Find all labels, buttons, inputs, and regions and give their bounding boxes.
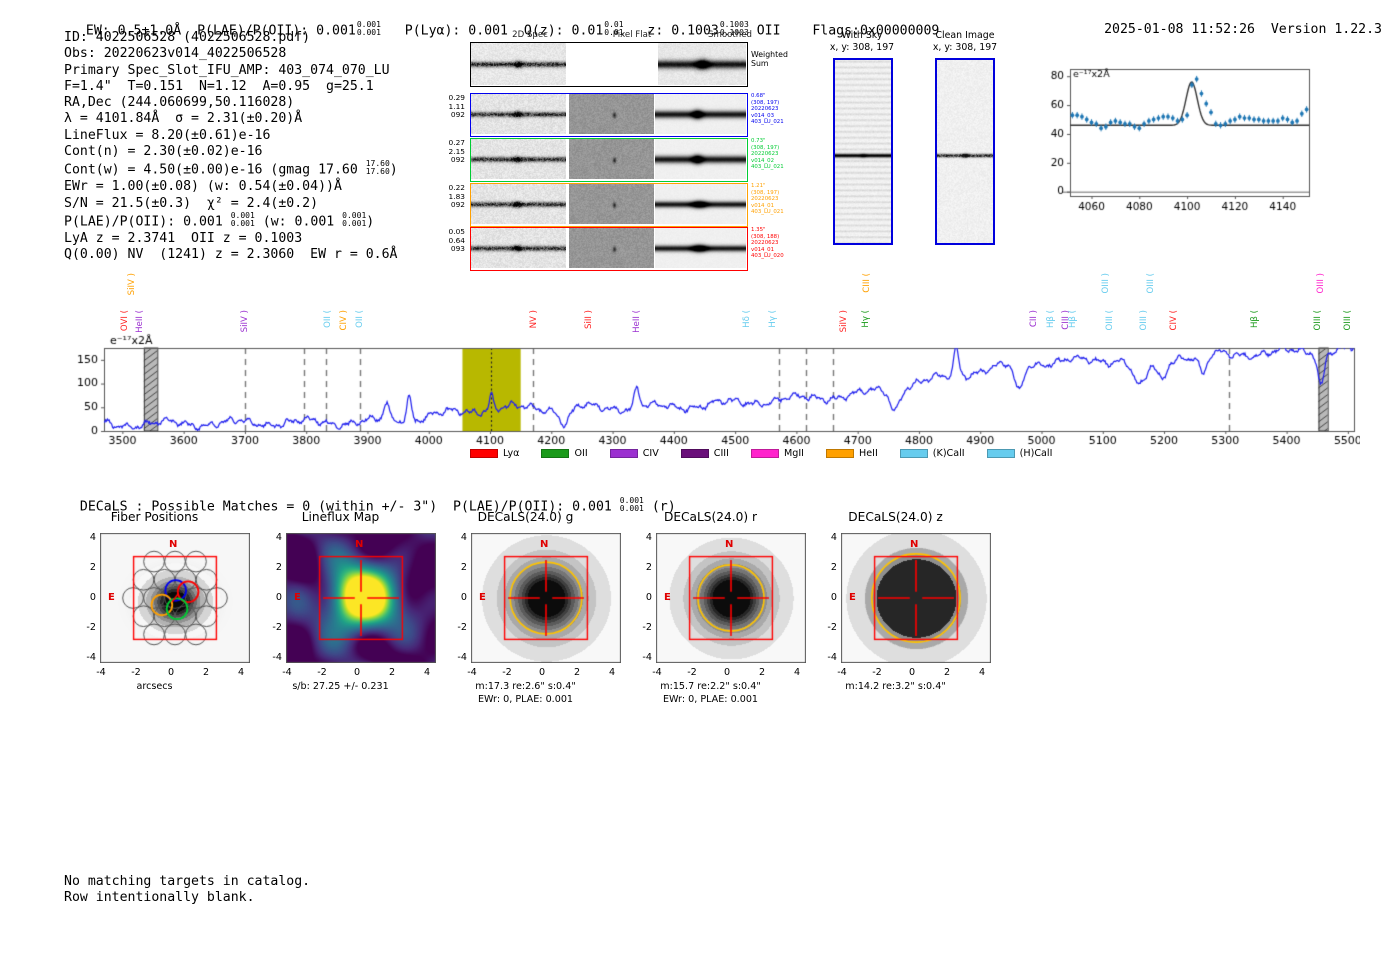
compass-east: E bbox=[108, 592, 115, 603]
info-lambda-sigma: λ = 4101.84Å σ = 2.31(±0.20)Å bbox=[64, 111, 398, 127]
compass-east: E bbox=[479, 592, 486, 603]
cutout-panel-lineflux-map: Lineflux Map420-2-4-4-2024s/b: 27.25 +/-… bbox=[248, 505, 433, 745]
compass-east: E bbox=[664, 592, 671, 603]
cutout-y-tick: 4 bbox=[262, 532, 282, 543]
compass-north: N bbox=[540, 539, 548, 550]
cutout-y-tick: 4 bbox=[632, 532, 652, 543]
col-title-2d-spec: 2D Spec bbox=[475, 30, 585, 40]
info-seeing: F=1.4" T=0.151 N=1.12 A=0.95 g=25.1 bbox=[64, 79, 398, 95]
legend-label: Lyα bbox=[503, 448, 519, 459]
spec-row-smoothed bbox=[655, 94, 746, 134]
spec-row-pixel-flat bbox=[569, 139, 654, 179]
cutout-x-tick: 2 bbox=[195, 667, 217, 678]
spec-row-smoothed bbox=[655, 184, 746, 224]
cutout-y-tick: 0 bbox=[262, 592, 282, 603]
legend-item: Lyα bbox=[470, 448, 519, 459]
cutout-x-tick: -2 bbox=[866, 667, 888, 678]
with-sky-subtitle: x, y: 308, 197 bbox=[812, 42, 912, 53]
info-id: ID: 4022506528 (4022506528.pdf) bbox=[64, 30, 398, 46]
cutout-image[interactable] bbox=[841, 533, 991, 663]
cutout-y-tick: 0 bbox=[447, 592, 467, 603]
header-version: Version 1.22.3 bbox=[1271, 22, 1382, 37]
col-title-smoothed: Smoothed bbox=[675, 30, 785, 40]
compass-north: N bbox=[355, 539, 363, 550]
cutout-title: DECaLS(24.0) z bbox=[803, 510, 988, 524]
cutout-y-tick: 4 bbox=[447, 532, 467, 543]
legend-item: CIV bbox=[610, 448, 659, 459]
info-cont-n: Cont(n) = 2.30(±0.02)e-16 bbox=[64, 144, 398, 160]
cutout-y-tick: 2 bbox=[447, 562, 467, 573]
cutout-x-tick: 2 bbox=[936, 667, 958, 678]
legend-swatch bbox=[610, 449, 638, 458]
emission-line-zoom-chart bbox=[1032, 45, 1315, 230]
cutout-y-tick: 0 bbox=[817, 592, 837, 603]
detection-info-block: ID: 4022506528 (4022506528.pdf) Obs: 202… bbox=[64, 30, 398, 263]
info-lineflux: LineFlux = 8.20(±0.61)e-16 bbox=[64, 128, 398, 144]
cutout-y-tick: 2 bbox=[817, 562, 837, 573]
cutout-x-tick: -4 bbox=[646, 667, 668, 678]
col-title-pixel-flat: Pixel Flat bbox=[577, 30, 687, 40]
legend-label: CIV bbox=[643, 448, 659, 459]
legend-swatch bbox=[826, 449, 854, 458]
spec-row-left-stats: 0.29 1.11 092 bbox=[417, 94, 465, 120]
cutout-y-tick: 0 bbox=[632, 592, 652, 603]
legend-swatch bbox=[541, 449, 569, 458]
cutout-x-tick: -4 bbox=[276, 667, 298, 678]
info-plae-poii: P(LAE)/P(OII): 0.001 0.0010.001 (w: 0.00… bbox=[64, 212, 398, 231]
legend-label: OII bbox=[574, 448, 587, 459]
cutout-x-tick: 0 bbox=[531, 667, 553, 678]
info-cont-w: Cont(w) = 4.50(±0.00)e-16 (gmag 17.60 17… bbox=[64, 160, 398, 179]
cutout-caption: m:15.7 re:2.2" s:0.4" bbox=[612, 681, 809, 693]
spec-row-panel bbox=[470, 93, 748, 137]
info-ewr: EWr = 1.00(±0.08) (w: 0.54(±0.04))Å bbox=[64, 179, 398, 195]
clean-image bbox=[935, 58, 995, 245]
cutout-x-tick: -4 bbox=[461, 667, 483, 678]
info-q-line: Q(0.00) NV (1241) z = 2.3060 EW r = 0.6Å bbox=[64, 247, 398, 263]
cutout-y-tick: -4 bbox=[262, 652, 282, 663]
cutout-caption: m:17.3 re:2.6" s:0.4" bbox=[427, 681, 624, 693]
cutout-y-tick: -4 bbox=[76, 652, 96, 663]
weighted-sum-panel bbox=[470, 42, 748, 87]
cutout-x-tick: 4 bbox=[971, 667, 993, 678]
cutout-panel-decals-r: DECaLS(24.0) r420-2-4-4-2024m:15.7 re:2.… bbox=[618, 505, 803, 745]
spec-row-left-stats: 0.27 2.15 092 bbox=[417, 139, 465, 165]
legend-label: CIII bbox=[714, 448, 729, 459]
info-sn-chi2: S/N = 21.5(±0.3) χ² = 2.4(±0.2) bbox=[64, 196, 398, 212]
spec-row-smoothed bbox=[655, 228, 746, 268]
header-timestamp: 2025-01-08 11:52:26 bbox=[1104, 22, 1255, 37]
info-primary-spec: Primary Spec_Slot_IFU_AMP: 403_074_070_L… bbox=[64, 63, 398, 79]
cutout-y-tick: 0 bbox=[76, 592, 96, 603]
cutout-panel-decals-g: DECaLS(24.0) g420-2-4-4-2024m:17.3 re:2.… bbox=[433, 505, 618, 745]
cutout-y-tick: -2 bbox=[817, 622, 837, 633]
compass-north: N bbox=[169, 539, 177, 550]
legend-item: HeII bbox=[826, 448, 878, 459]
two-d-spectrum-panel-group: 2D Spec Pixel Flat Smoothed Weighted Sum… bbox=[455, 30, 785, 260]
cutout-y-tick: -4 bbox=[632, 652, 652, 663]
cutout-title: Fiber Positions bbox=[62, 510, 247, 524]
legend-swatch bbox=[900, 449, 928, 458]
spec-row-2d-image bbox=[471, 139, 566, 179]
legend-swatch bbox=[751, 449, 779, 458]
cutout-panel-fiber-positions: Fiber Positions420-2-4-4-2024arcsecsNE bbox=[62, 505, 247, 745]
spec-row-panel bbox=[470, 183, 748, 227]
legend-swatch bbox=[470, 449, 498, 458]
with-sky-title: With Sky bbox=[812, 30, 912, 41]
clean-image-subtitle: x, y: 308, 197 bbox=[910, 42, 1020, 53]
cutout-caption: m:14.2 re:3.2" s:0.4" bbox=[797, 681, 994, 693]
cutout-image[interactable] bbox=[656, 533, 806, 663]
legend-label: (H)CalI bbox=[1020, 448, 1053, 459]
cutout-title: DECaLS(24.0) r bbox=[618, 510, 803, 524]
cutout-y-tick: -2 bbox=[632, 622, 652, 633]
cutout-y-tick: -2 bbox=[262, 622, 282, 633]
legend-item: OII bbox=[541, 448, 587, 459]
spectrum-legend: LyαOIICIVCIIIMgIIHeII(K)CalI(H)CalI bbox=[470, 448, 1074, 459]
spec-row-2d-image bbox=[471, 184, 566, 224]
header-timestamp-version: 2025-01-08 11:52:26 Version 1.22.3 bbox=[1088, 7, 1382, 37]
cutout-image[interactable] bbox=[286, 533, 436, 663]
spec-row-smoothed bbox=[655, 139, 746, 179]
cutout-y-tick: 2 bbox=[76, 562, 96, 573]
cutout-x-tick: -2 bbox=[681, 667, 703, 678]
compass-east: E bbox=[294, 592, 301, 603]
cutout-panel-row: Fiber Positions420-2-4-4-2024arcsecsNELi… bbox=[0, 505, 1400, 745]
cutout-x-tick: 2 bbox=[381, 667, 403, 678]
cutout-x-tick: -4 bbox=[90, 667, 112, 678]
footer-line-1: No matching targets in catalog. bbox=[64, 874, 310, 890]
cutout-x-tick: 2 bbox=[751, 667, 773, 678]
cutout-x-tick: -2 bbox=[125, 667, 147, 678]
compass-north: N bbox=[725, 539, 733, 550]
cutout-y-tick: 2 bbox=[632, 562, 652, 573]
legend-swatch bbox=[987, 449, 1015, 458]
spec-row-pixel-flat bbox=[569, 228, 654, 268]
weighted-sum-label: Weighted Sum bbox=[751, 50, 788, 69]
clean-image-title: Clean Image bbox=[910, 30, 1020, 41]
cutout-y-tick: 4 bbox=[76, 532, 96, 543]
cutout-image[interactable] bbox=[471, 533, 621, 663]
footer-notes: No matching targets in catalog. Row inte… bbox=[64, 874, 310, 907]
legend-label: (K)CalI bbox=[933, 448, 965, 459]
cutout-x-tick: -4 bbox=[831, 667, 853, 678]
cutout-y-tick: -4 bbox=[817, 652, 837, 663]
spec-row-panel bbox=[470, 138, 748, 182]
cutout-caption: s/b: 27.25 +/- 0.231 bbox=[242, 681, 439, 693]
cutout-y-tick: -4 bbox=[447, 652, 467, 663]
cutout-x-tick: 0 bbox=[716, 667, 738, 678]
cutout-panel-decals-z: DECaLS(24.0) z420-2-4-4-2024m:14.2 re:3.… bbox=[803, 505, 988, 745]
cutout-x-tick: 0 bbox=[346, 667, 368, 678]
spec-row-pixel-flat bbox=[569, 184, 654, 224]
legend-item: CIII bbox=[681, 448, 729, 459]
compass-east: E bbox=[849, 592, 856, 603]
spec-row-meta: 1.21" (308, 197) 20220623 v014_01 403_LU… bbox=[751, 183, 784, 216]
full-spectrum-chart: OVI (HeII (SiIV )SiIV )OII (CIV )OII (NV… bbox=[60, 270, 1360, 455]
spec-row-panel bbox=[470, 227, 748, 271]
cutout-x-label: arcsecs bbox=[62, 681, 247, 693]
info-radec: RA,Dec (244.060699,50.116028) bbox=[64, 95, 398, 111]
cutout-x-tick: 2 bbox=[566, 667, 588, 678]
spec-row-left-stats: 0.05 0.64 093 bbox=[417, 228, 465, 254]
spec-row-meta: 0.68" (308, 197) 20220623 v014_03 403_LU… bbox=[751, 93, 784, 126]
cutout-title: Lineflux Map bbox=[248, 510, 433, 524]
spec-row-2d-image bbox=[471, 94, 566, 134]
cutout-y-tick: -2 bbox=[447, 622, 467, 633]
legend-item: MgII bbox=[751, 448, 804, 459]
spec-row-pixel-flat bbox=[569, 94, 654, 134]
legend-label: MgII bbox=[784, 448, 804, 459]
legend-item: (K)CalI bbox=[900, 448, 965, 459]
spec-row-left-stats: 0.22 1.83 092 bbox=[417, 184, 465, 210]
spec-row-2d-image bbox=[471, 228, 566, 268]
cutout-x-tick: 0 bbox=[160, 667, 182, 678]
compass-north: N bbox=[910, 539, 918, 550]
cutout-y-tick: 2 bbox=[262, 562, 282, 573]
with-sky-image bbox=[833, 58, 893, 245]
legend-swatch bbox=[681, 449, 709, 458]
spec-row-meta: 1.35" (308, 188) 20220623 v014_01 403_LU… bbox=[751, 227, 784, 260]
cutout-caption-2: EWr: 0, PLAE: 0.001 bbox=[427, 694, 624, 706]
cutout-y-tick: -2 bbox=[76, 622, 96, 633]
legend-item: (H)CalI bbox=[987, 448, 1053, 459]
cutout-caption-2: EWr: 0, PLAE: 0.001 bbox=[612, 694, 809, 706]
info-obs: Obs: 20220623v014_4022506528 bbox=[64, 46, 398, 62]
spec-row-meta: 0.73" (308, 197) 20220623 v014_02 403_LU… bbox=[751, 138, 784, 171]
cutout-image[interactable] bbox=[100, 533, 250, 663]
cutout-x-tick: -2 bbox=[496, 667, 518, 678]
footer-line-2: Row intentionally blank. bbox=[64, 890, 310, 906]
cutout-x-tick: 0 bbox=[901, 667, 923, 678]
legend-label: HeII bbox=[859, 448, 878, 459]
info-redshifts: LyA z = 2.3741 OII z = 0.1003 bbox=[64, 231, 398, 247]
cutout-y-tick: 4 bbox=[817, 532, 837, 543]
cutout-x-tick: -2 bbox=[311, 667, 333, 678]
cutout-title: DECaLS(24.0) g bbox=[433, 510, 618, 524]
